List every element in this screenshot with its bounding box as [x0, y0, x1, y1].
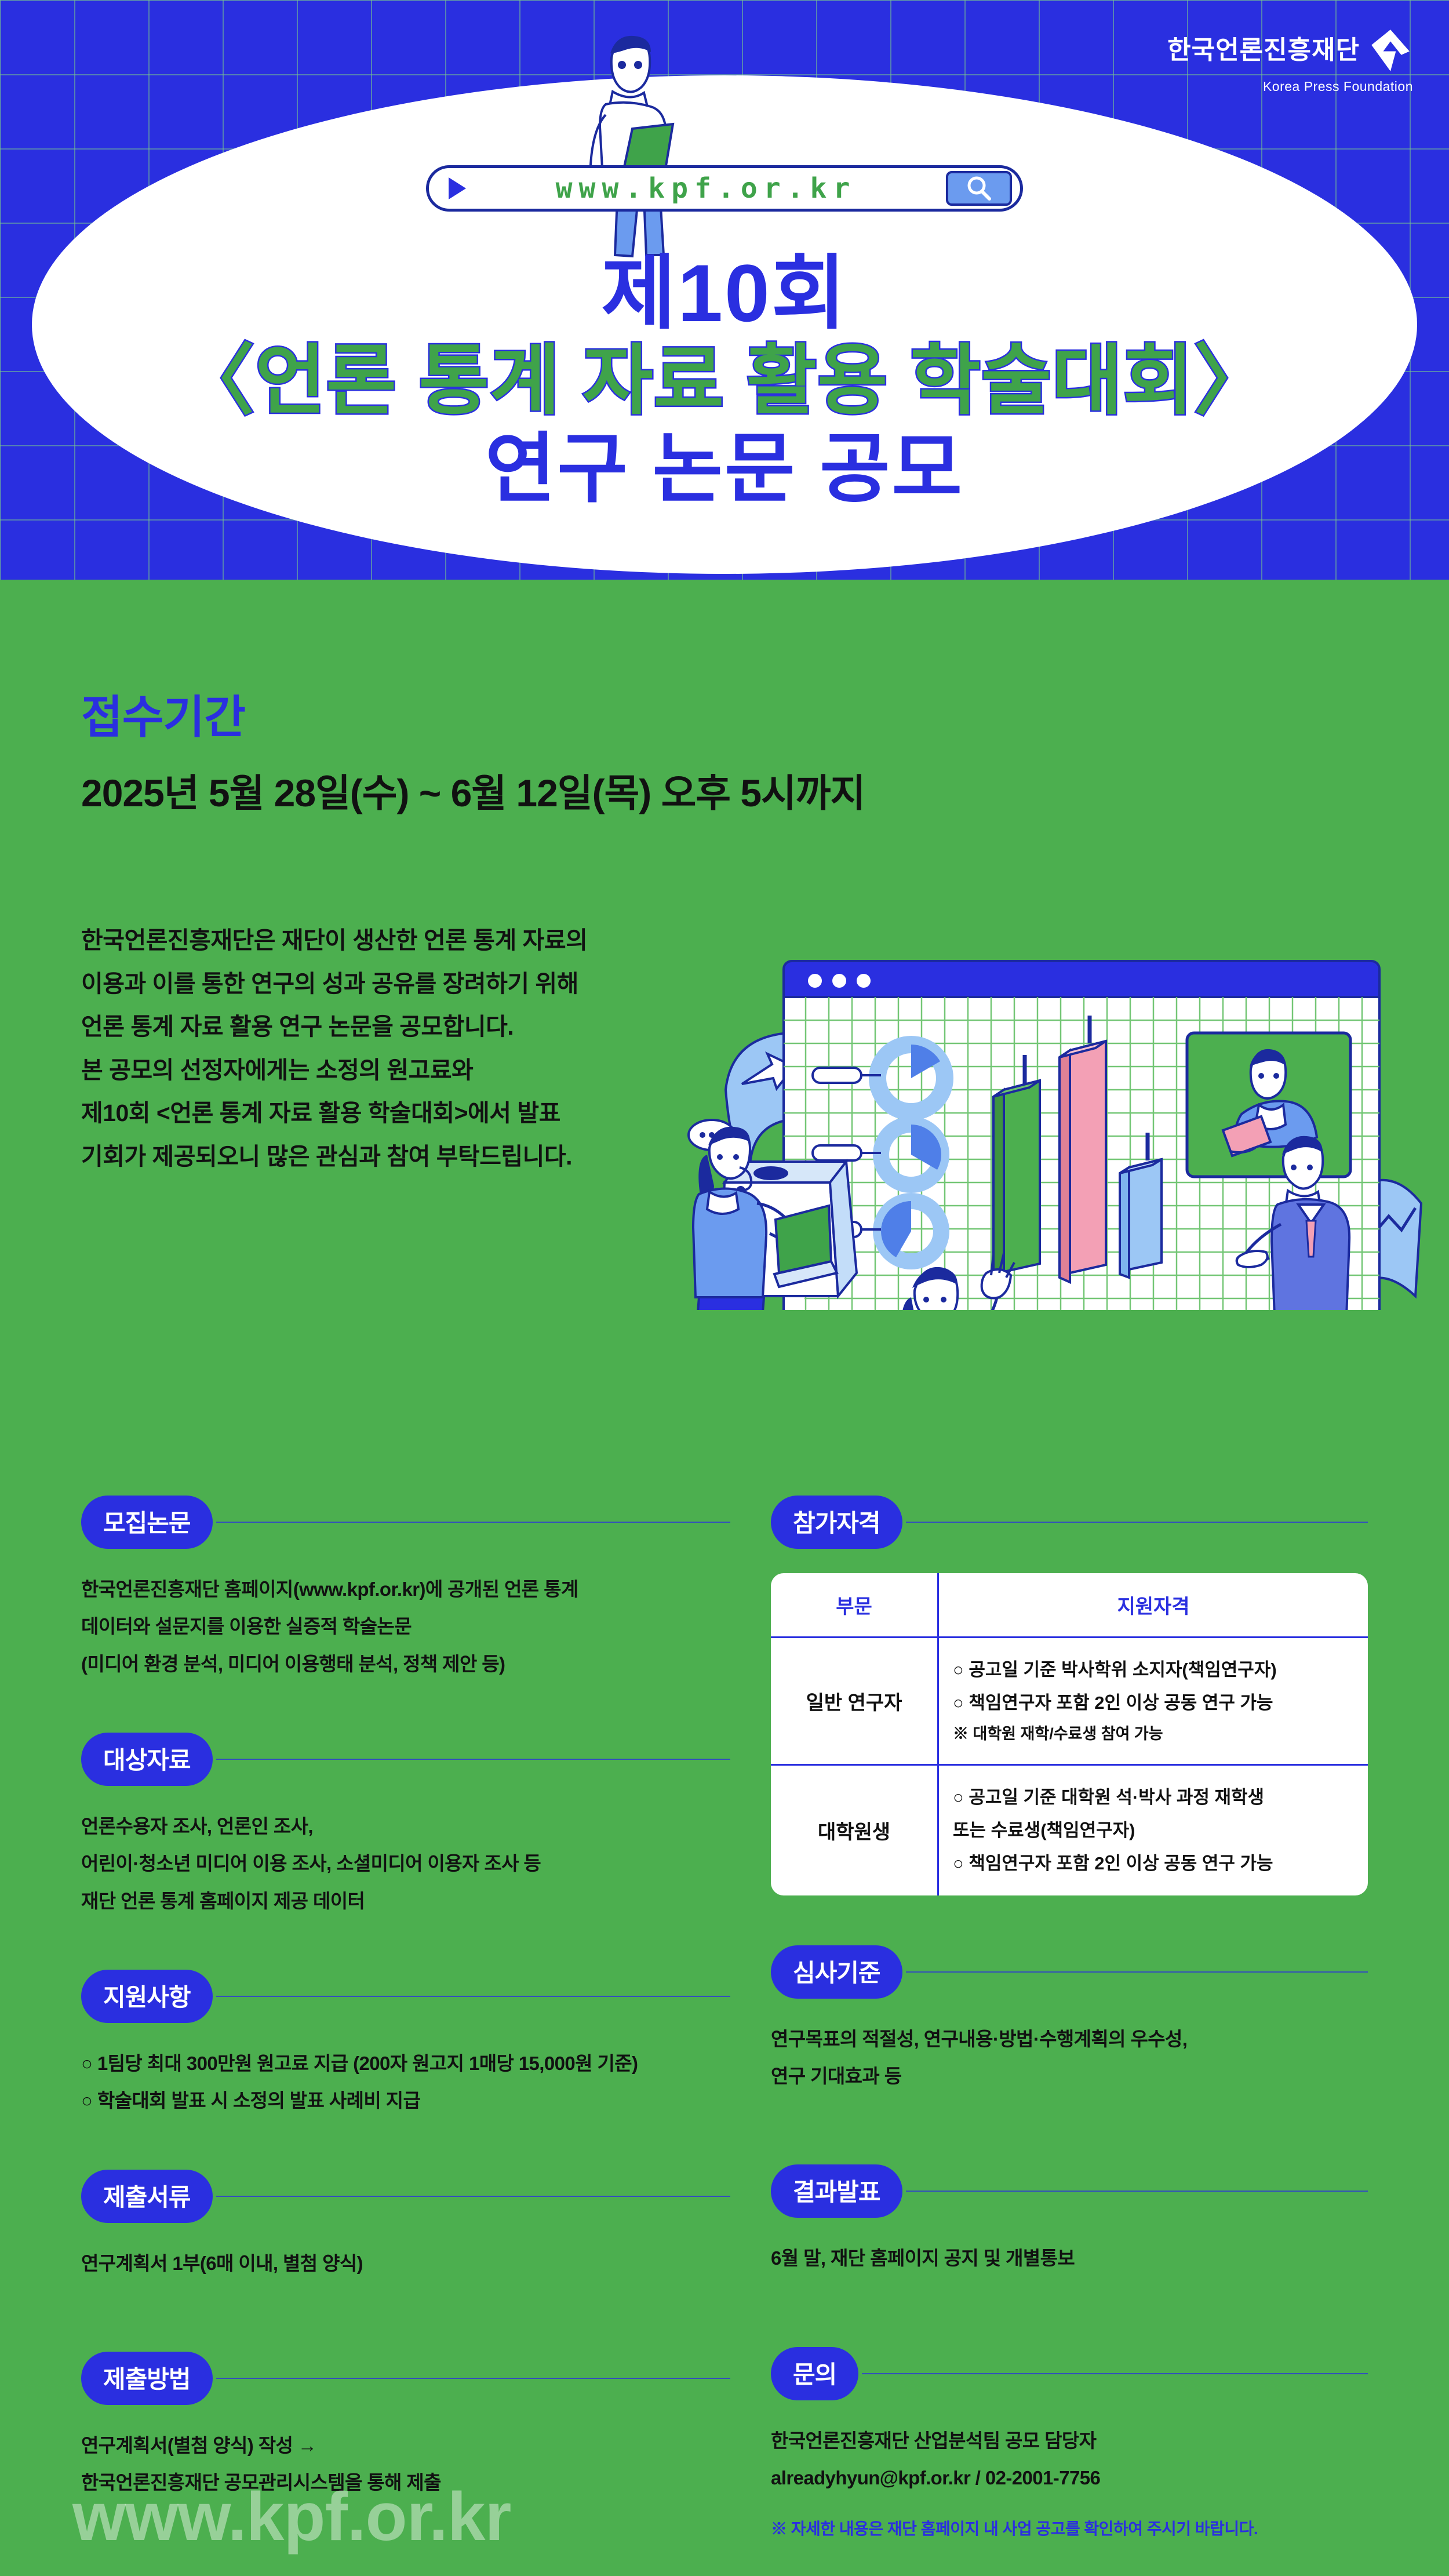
data-body: 언론수용자 조사, 언론인 조사,어린이·청소년 미디어 이용 조사, 소셜미디… [81, 1808, 730, 1920]
divider-rule [906, 1522, 1368, 1523]
section-data: 대상자료 언론수용자 조사, 언론인 조사,어린이·청소년 미디어 이용 조사,… [81, 1733, 730, 1920]
application-period-label: 접수기간 [81, 681, 245, 746]
divider-rule [906, 2191, 1368, 2192]
qual-item: ○ 공고일 기준 박사학위 소지자(책임연구자) [953, 1653, 1354, 1686]
support-item-2: ○ 학술대회 발표 시 소정의 발표 사례비 지급 [81, 2082, 730, 2119]
cell-qualification: ○ 공고일 기준 박사학위 소지자(책임연구자) ○ 책임연구자 포함 2인 이… [939, 1638, 1368, 1766]
eligibility-table: 부문 지원자격 일반 연구자 ○ 공고일 기준 박사학위 소지자(책임연구자) … [771, 1573, 1368, 1895]
pill-criteria: 심사기준 [771, 1945, 902, 1999]
contact-owner: 한국언론진흥재단 산업분석팀 공모 담당자 [771, 2422, 1368, 2459]
qual-item: ○ 책임연구자 포함 2인 이상 공동 연구 가능 [953, 1686, 1354, 1719]
conference-illustration [684, 684, 1426, 1310]
section-papers: 모집논문 한국언론진흥재단 홈페이지(www.kpf.or.kr)에 공개된 언… [81, 1496, 730, 1683]
kpf-logo: 한국언론진흥재단 Korea Press Foundation [1167, 28, 1413, 94]
person-with-laptop-illustration [525, 17, 722, 261]
table-row: 일반 연구자 ○ 공고일 기준 박사학위 소지자(책임연구자) ○ 책임연구자 … [771, 1638, 1368, 1766]
title-line-2: 〈언론 통계 자료 활용 학술대회〉 [0, 337, 1449, 425]
pill-data: 대상자료 [81, 1733, 213, 1786]
pill-results: 결과발표 [771, 2164, 902, 2218]
results-body: 6월 말, 재단 홈페이지 공지 및 개별통보 [771, 2240, 1368, 2277]
pill-method: 제출방법 [81, 2352, 213, 2405]
divider-rule [906, 1971, 1368, 1973]
qual-item: 또는 수료생(책임연구자) [953, 1814, 1354, 1847]
divider-rule [862, 2373, 1368, 2374]
url-text: www.kpf.or.kr [466, 172, 946, 205]
cell-qualification: ○ 공고일 기준 대학원 석·박사 과정 재학생 또는 수료생(책임연구자) ○… [939, 1766, 1368, 1895]
intro-paragraph: 한국언론진흥재단은 재단이 생산한 언론 통계 자료의이용과 이를 통한 연구의… [81, 919, 587, 1178]
logo-korean-text: 한국언론진흥재단 [1167, 38, 1360, 63]
col-header-part: 부문 [771, 1573, 939, 1638]
title-line-1: 제10회 [0, 249, 1449, 337]
left-column: 모집논문 한국언론진흥재단 홈페이지(www.kpf.or.kr)에 공개된 언… [81, 1496, 730, 2502]
search-button[interactable] [946, 171, 1012, 206]
eligibility-table-body: 일반 연구자 ○ 공고일 기준 박사학위 소지자(책임연구자) ○ 책임연구자 … [771, 1638, 1368, 1895]
pill-contact: 문의 [771, 2347, 858, 2400]
pill-eligibility: 참가자격 [771, 1496, 902, 1549]
criteria-body: 연구목표의 적절성, 연구내용·방법·수행계획의 우수성,연구 기대효과 등 [771, 2021, 1368, 2095]
divider-rule [216, 2196, 730, 2197]
footer-watermark-url: www.kpf.or.kr [72, 2477, 511, 2556]
qual-item: ○ 공고일 기준 대학원 석·박사 과정 재학생 [953, 1781, 1354, 1814]
contact-email-phone[interactable]: alreadyhyun@kpf.or.kr / 02-2001-7756 [771, 2459, 1368, 2497]
right-column: 참가자격 부문 지원자격 일반 연구자 ○ 공고일 기준 박사학위 소지자(책임… [771, 1496, 1368, 2539]
papers-body: 한국언론진흥재단 홈페이지(www.kpf.or.kr)에 공개된 언론 통계데… [81, 1571, 730, 1683]
section-criteria: 심사기준 연구목표의 적절성, 연구내용·방법·수행계획의 우수성,연구 기대효… [771, 1945, 1368, 2095]
divider-rule [216, 1759, 730, 1760]
pill-papers: 모집논문 [81, 1496, 213, 1549]
divider-rule [216, 2378, 730, 2379]
poster-title: 제10회 〈언론 통계 자료 활용 학술대회〉 연구 논문 공모 [0, 249, 1449, 513]
divider-rule [216, 1522, 730, 1523]
section-results: 결과발표 6월 말, 재단 홈페이지 공지 및 개별통보 [771, 2164, 1368, 2277]
pill-support: 지원사항 [81, 1970, 213, 2023]
section-support: 지원사항 ○ 1팀당 최대 300만원 원고료 지급 (200자 원고지 1매당… [81, 1970, 730, 2120]
search-icon [964, 173, 994, 203]
section-eligibility: 참가자격 부문 지원자격 일반 연구자 ○ 공고일 기준 박사학위 소지자(책임… [771, 1496, 1368, 1895]
qual-note: ※ 대학원 재학/수료생 참여 가능 [953, 1720, 1354, 1749]
kpf-emblem-icon [1368, 28, 1413, 73]
col-header-qualification: 지원자격 [939, 1573, 1368, 1638]
table-header-row: 부문 지원자격 [771, 1573, 1368, 1638]
section-documents: 제출서류 연구계획서 1부(6매 이내, 별첨 양식) [81, 2170, 730, 2282]
table-row: 대학원생 ○ 공고일 기준 대학원 석·박사 과정 재학생 또는 수료생(책임연… [771, 1766, 1368, 1895]
documents-body: 연구계획서 1부(6매 이내, 별첨 양식) [81, 2245, 730, 2282]
section-contact: 문의 한국언론진흥재단 산업분석팀 공모 담당자 alreadyhyun@kpf… [771, 2347, 1368, 2540]
url-search-bar[interactable]: www.kpf.or.kr [426, 165, 1023, 212]
play-triangle-icon [449, 177, 466, 199]
cell-part: 대학원생 [771, 1766, 939, 1895]
pill-documents: 제출서류 [81, 2170, 213, 2223]
logo-english-text: Korea Press Foundation [1167, 79, 1413, 94]
title-line-3: 연구 논문 공모 [0, 425, 1449, 513]
support-item-1: ○ 1팀당 최대 300만원 원고료 지급 (200자 원고지 1매당 15,0… [81, 2045, 730, 2082]
poster-root: 한국언론진흥재단 Korea Press Foundation www.kpf.… [0, 0, 1449, 2576]
qual-item: ○ 책임연구자 포함 2인 이상 공동 연구 가능 [953, 1847, 1354, 1880]
divider-rule [216, 1996, 730, 1997]
cell-part: 일반 연구자 [771, 1638, 939, 1766]
contact-footnote: ※ 자세한 내용은 재단 홈페이지 내 사업 공고를 확인하여 주시기 바랍니다… [771, 2516, 1368, 2539]
